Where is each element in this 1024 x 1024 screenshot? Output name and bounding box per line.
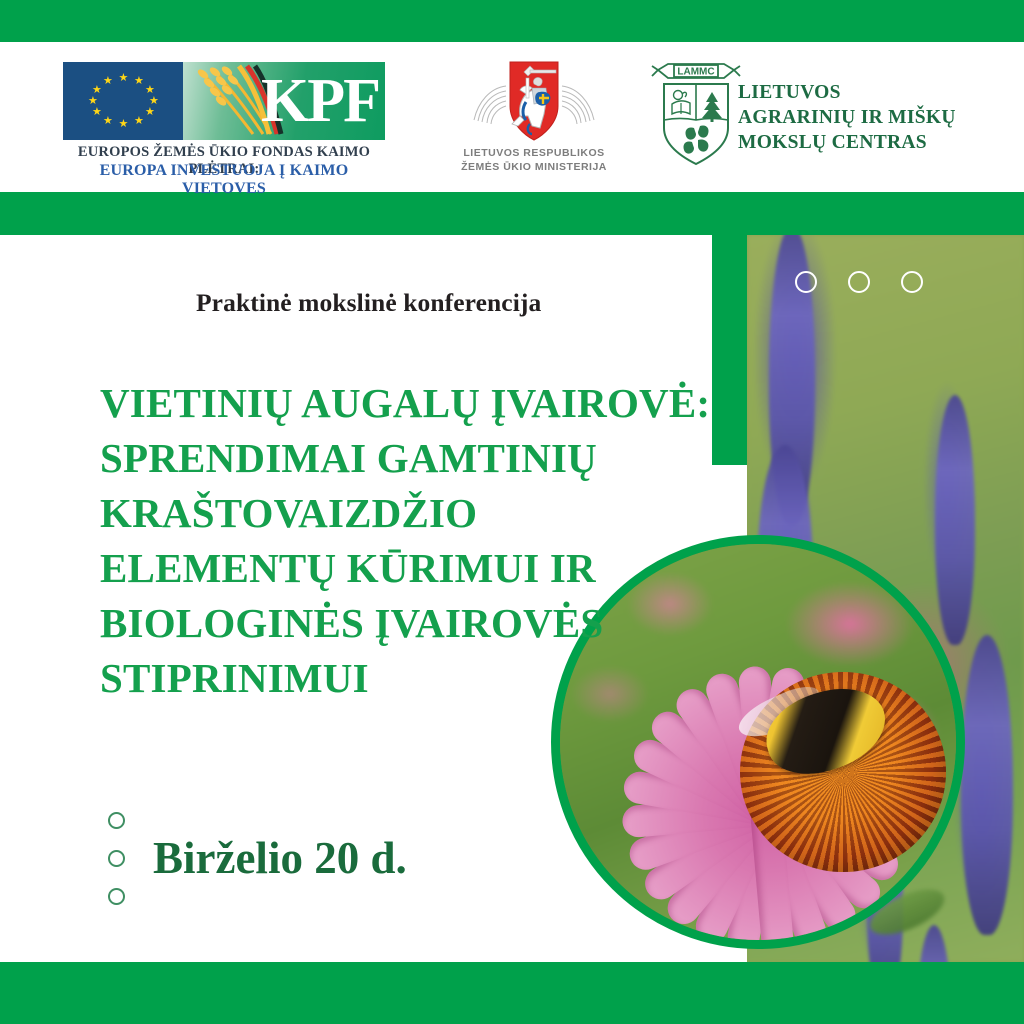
photo-dot-decorations <box>795 271 923 293</box>
flower-spike <box>961 635 1013 935</box>
circle-outline-icon <box>108 812 125 829</box>
lammc-logo: LAMMC <box>650 58 960 186</box>
top-green-band <box>0 0 1024 42</box>
ministry-caption: LIETUVOS RESPUBLIKOS ŽEMĖS ŪKIO MINISTER… <box>450 146 618 174</box>
circle-outline-icon <box>901 271 923 293</box>
kicker-text: Praktinė mokslinė konferencija <box>196 288 541 318</box>
headline-line: SPRENDIMAI GAMTINIŲ <box>100 431 720 486</box>
ministry-caption-line2: ŽEMĖS ŪKIO MINISTERIJA <box>450 160 618 174</box>
vytis-coat-of-arms-icon <box>470 58 598 144</box>
circle-outline-icon <box>108 850 125 867</box>
headline-line: BIOLOGINĖS ĮVAIROVĖS <box>100 596 720 651</box>
kpf-caption-line2: EUROPA INVESTUOJA Į KAIMO VIETOVES <box>63 162 385 198</box>
event-date: Birželio 20 d. <box>153 836 407 881</box>
circle-outline-icon <box>108 888 125 905</box>
headline-line: KRAŠTOVAIZDŽIO <box>100 486 720 541</box>
date-bullet-decorations <box>108 812 125 905</box>
kpf-eu-logo: ★ ★ ★ ★ ★ ★ ★ ★ ★ ★ ★ ★ <box>63 62 385 183</box>
logo-strip: ★ ★ ★ ★ ★ ★ ★ ★ ★ ★ ★ ★ <box>0 42 1024 192</box>
ministry-caption-line1: LIETUVOS RESPUBLIKOS <box>450 146 618 160</box>
lammc-ribbon-label: LAMMC <box>677 67 714 78</box>
middle-green-band <box>0 192 1024 235</box>
headline-line: STIPRINIMUI <box>100 651 720 706</box>
lammc-title: LIETUVOS AGRARINIŲ IR MIŠKŲ MOKSLŲ CENTR… <box>738 80 956 155</box>
lammc-shield-icon: LAMMC <box>650 58 742 170</box>
kpf-logo-bar: ★ ★ ★ ★ ★ ★ ★ ★ ★ ★ ★ ★ <box>63 62 385 140</box>
date-row: Birželio 20 d. <box>108 812 407 905</box>
lammc-title-line2: AGRARINIŲ IR MIŠKŲ <box>738 105 956 130</box>
kpf-green-panel: KPF <box>183 62 385 140</box>
headline-line: VIETINIŲ AUGALŲ ĮVAIROVĖ: <box>100 376 720 431</box>
bottom-green-band <box>0 962 1024 1024</box>
kpf-wordmark: KPF <box>261 64 379 138</box>
circle-outline-icon <box>848 271 870 293</box>
lammc-title-line3: MOKSLŲ CENTRAS <box>738 130 956 155</box>
headline: VIETINIŲ AUGALŲ ĮVAIROVĖ: SPRENDIMAI GAM… <box>100 376 720 706</box>
circle-outline-icon <box>795 271 817 293</box>
lammc-title-line1: LIETUVOS <box>738 80 956 105</box>
eu-flag-icon: ★ ★ ★ ★ ★ ★ ★ ★ ★ ★ ★ ★ <box>63 62 183 140</box>
ministry-logo: LIETUVOS RESPUBLIKOS ŽEMĖS ŪKIO MINISTER… <box>450 58 618 186</box>
poster-canvas: ★ ★ ★ ★ ★ ★ ★ ★ ★ ★ ★ ★ <box>0 0 1024 1024</box>
headline-line: ELEMENTŲ KŪRIMUI IR <box>100 541 720 596</box>
